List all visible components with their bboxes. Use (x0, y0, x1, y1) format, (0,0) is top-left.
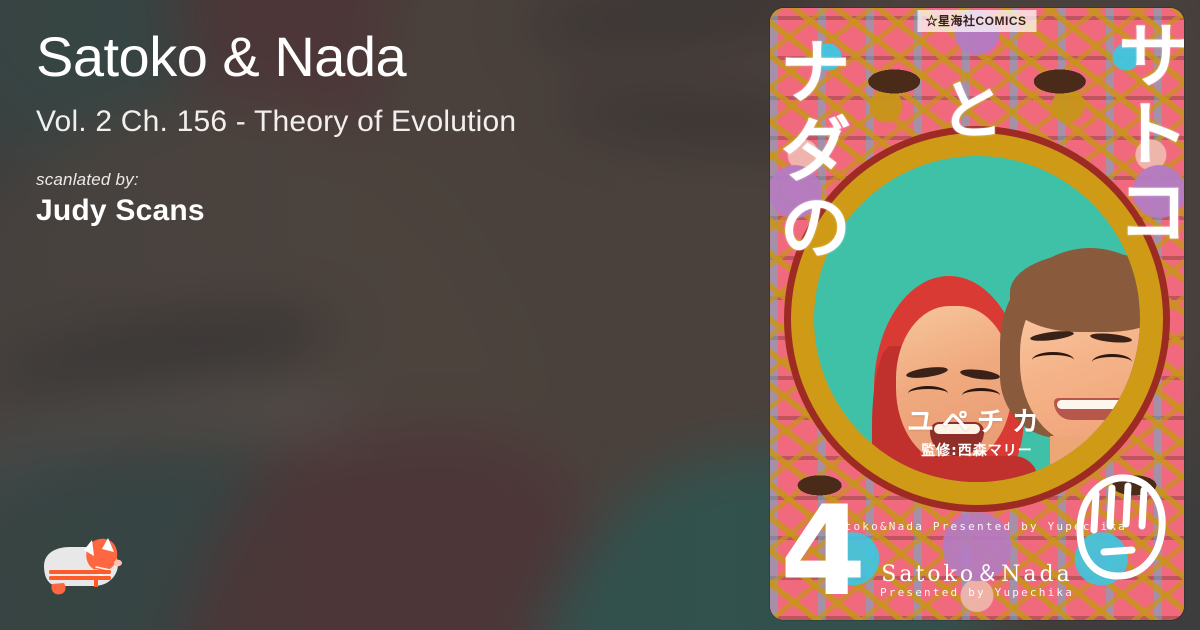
scanlated-by-label: scanlated by: (36, 170, 736, 190)
cover-face-doodle-icon (1060, 464, 1172, 592)
chapter-subtitle: Vol. 2 Ch. 156 - Theory of Evolution (36, 104, 736, 140)
cover-author-name: ユペチカ (770, 400, 1184, 439)
mangadex-cat-icon (36, 536, 132, 602)
cover-title-kana-left: ナダの (774, 34, 842, 268)
share-card: Satoko & Nada Vol. 2 Ch. 156 - Theory of… (0, 0, 1200, 630)
publisher-banner: ☆星海社COMICS (917, 10, 1036, 32)
manga-cover-image[interactable]: ☆星海社COMICS サトコ と ナダの 4 ユペチカ 監修:西森マリー Sat… (770, 8, 1184, 620)
cover-title-kana-particle: と (940, 82, 1004, 142)
scanlator-group-name: Judy Scans (36, 194, 736, 228)
cover-title-kana-right: サトコ (1112, 18, 1180, 252)
satoko-eye-left (1032, 352, 1074, 368)
satoko-eye-right (1092, 354, 1132, 370)
mangadex-logo (36, 536, 132, 602)
chapter-info-block: Satoko & Nada Vol. 2 Ch. 156 - Theory of… (36, 28, 736, 228)
satoko-bangs (1010, 252, 1140, 332)
nada-eye-left (908, 386, 948, 401)
cover-supervisor-credit: 監修:西森マリー (770, 440, 1184, 460)
manga-title: Satoko & Nada (36, 28, 736, 86)
